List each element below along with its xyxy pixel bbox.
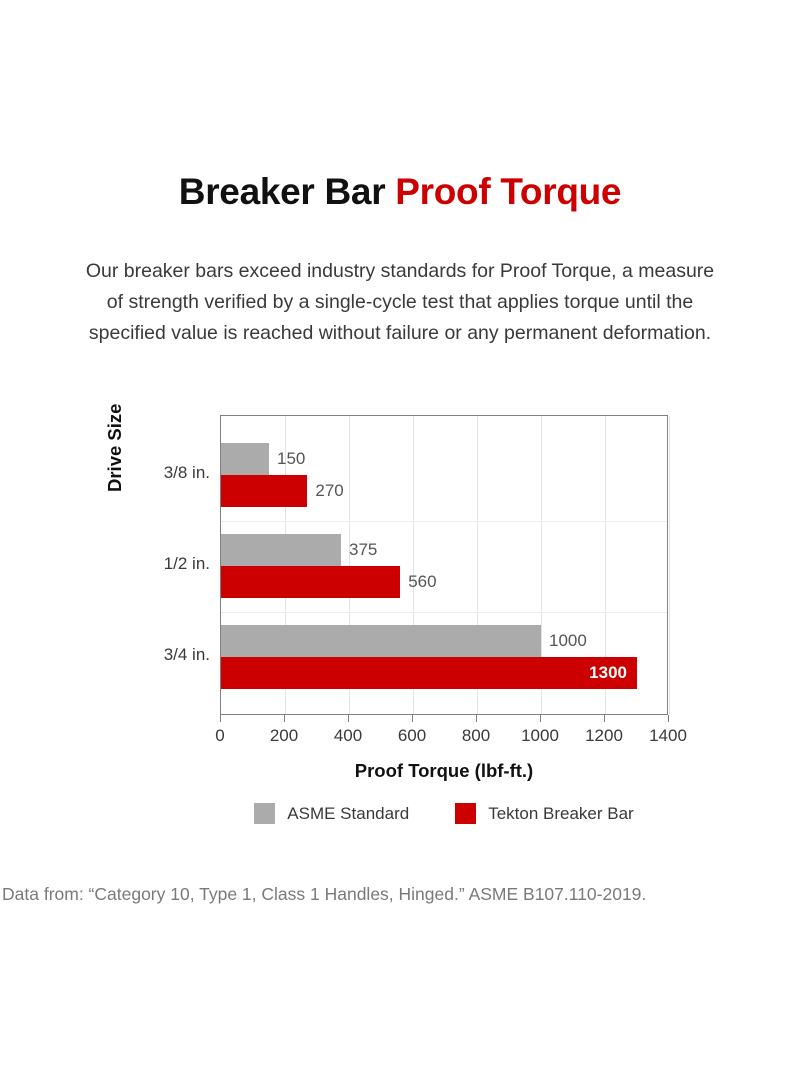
x-tick (476, 715, 477, 722)
chart-page: Breaker Bar Proof Torque Our breaker bar… (0, 0, 800, 1091)
gridline (669, 416, 670, 714)
bar-value-label: 1300 (579, 657, 627, 689)
bar-asme-2 (221, 625, 541, 657)
x-tick (604, 715, 605, 722)
legend-swatch-icon (455, 803, 476, 824)
subtitle-line-2: of strength verified by a single-cycle t… (38, 287, 762, 318)
bar-value-label: 150 (277, 443, 305, 475)
chart-legend: ASME StandardTekton Breaker Bar (220, 803, 668, 824)
bar-value-label: 270 (315, 475, 343, 507)
group-separator (221, 521, 667, 522)
bar-tekton-1 (221, 566, 400, 598)
title-black-part: Breaker Bar (179, 171, 396, 212)
x-tick (668, 715, 669, 722)
bar-asme-0 (221, 443, 269, 475)
bar-asme-1 (221, 534, 341, 566)
legend-label: Tekton Breaker Bar (488, 804, 634, 824)
group-separator (221, 612, 667, 613)
subtitle-line-3: specified value is reached without failu… (38, 318, 762, 349)
y-axis-title: Drive Size (104, 404, 126, 492)
plot-area: 15027037556010001300 (220, 415, 668, 715)
subtitle-line-1: Our breaker bars exceed industry standar… (38, 256, 762, 287)
x-tick-label: 1400 (628, 726, 708, 746)
footnote: Data from: “Category 10, Type 1, Class 1… (2, 884, 800, 905)
category-label: 1/2 in. (100, 554, 210, 574)
title-red-part: Proof Torque (395, 171, 621, 212)
bar-value-label: 560 (408, 566, 436, 598)
category-label: 3/4 in. (100, 645, 210, 665)
x-tick (540, 715, 541, 722)
legend-item-asme[interactable]: ASME Standard (254, 803, 409, 824)
subtitle-paragraph: Our breaker bars exceed industry standar… (38, 256, 762, 349)
bar-value-label: 375 (349, 534, 377, 566)
x-tick (412, 715, 413, 722)
x-tick (220, 715, 221, 722)
x-tick (348, 715, 349, 722)
bar-value-label: 1000 (549, 625, 587, 657)
x-tick (284, 715, 285, 722)
legend-label: ASME Standard (287, 804, 409, 824)
bar-tekton-0 (221, 475, 307, 507)
x-axis-title: Proof Torque (lbf-ft.) (220, 760, 668, 782)
legend-swatch-icon (254, 803, 275, 824)
bar-tekton-2 (221, 657, 637, 689)
bar-chart: 15027037556010001300 0200400600800100012… (0, 0, 800, 1091)
legend-item-tekton[interactable]: Tekton Breaker Bar (455, 803, 634, 824)
page-title: Breaker Bar Proof Torque (0, 172, 800, 213)
